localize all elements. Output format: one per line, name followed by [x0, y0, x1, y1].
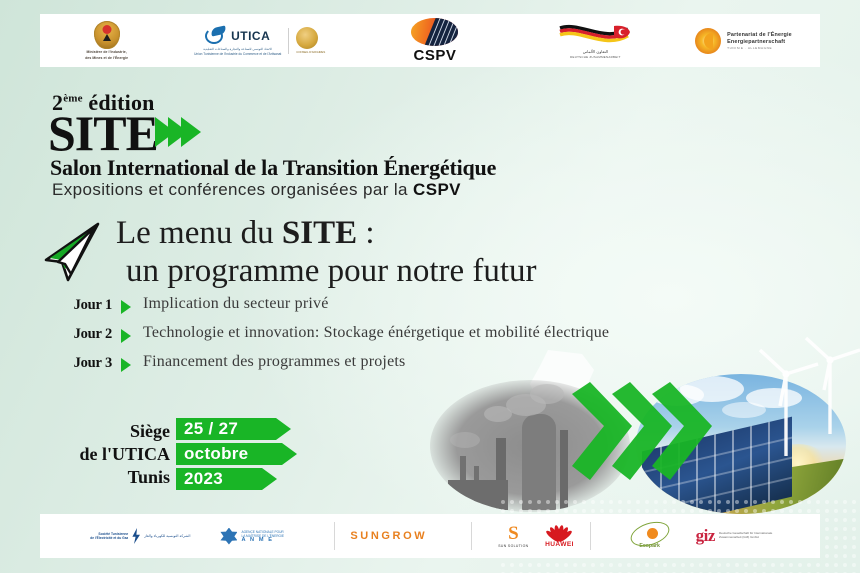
venue-line1: Siège — [40, 420, 170, 443]
cspv-sun-panel-icon — [411, 18, 458, 46]
giz-logo: giz Deutsche Gesellschaft für Internatio… — [696, 526, 781, 546]
utica-arabic-line: الاتحاد التونسي للصناعة والتجارة والصناع… — [203, 47, 272, 51]
venue-line2: de l'UTICA — [40, 443, 170, 466]
date-range-text: 25 / 27 — [184, 419, 238, 439]
menu-line1-suffix: : — [357, 215, 374, 251]
month-banner: octobre — [176, 443, 297, 465]
cspv-logo: CSPV — [346, 14, 524, 67]
top-partner-logo-bar: Ministère de l'Industrie, des Mines et d… — [40, 14, 820, 67]
ecopark-orbit-icon — [630, 523, 670, 545]
anme-emblem-icon — [220, 528, 237, 545]
partnership-line2: Energiepartnerschaft — [727, 39, 792, 45]
utica-logo: UTICA الاتحاد التونسي للصناعة والتجارة و… — [173, 14, 346, 67]
energy-partnership-sun-icon — [695, 28, 721, 54]
edition-ordinal: ème — [63, 93, 83, 105]
year-banner: 2023 — [176, 468, 297, 490]
menu-line1-bold: SITE — [282, 215, 357, 251]
utica-wordmark: UTICA — [231, 29, 270, 43]
utica-caption: Union Tunisienne de l'Industrie du Comme… — [194, 52, 281, 56]
poster-canvas: Ministère de l'Industrie, des Mines et d… — [0, 0, 860, 573]
lightning-bolt-icon — [131, 528, 141, 544]
institutional-sponsor-group: Société Tunisienne de l'Électricité et d… — [40, 514, 334, 558]
organiser-text: Expositions et conférences organisées pa… — [52, 180, 413, 199]
site-acronym-row: SITE — [48, 108, 201, 158]
giz-wordmark: giz — [696, 526, 715, 546]
sun-solution-mark: S — [508, 524, 519, 543]
anme-logo: AGENCE NATIONALE POUR LA MAÎTRISE DE L'É… — [220, 528, 284, 545]
month-text: octobre — [184, 444, 248, 464]
venue-line3: Tunis — [40, 466, 170, 489]
energiepartnerschaft-logo: Partenariat de l'Énergie Energiepartners… — [667, 14, 820, 67]
logo-divider — [288, 28, 289, 54]
technology-sponsor-group: SUNGROW S SUN SOLUTION HUAWEI — [335, 514, 589, 558]
cspv-wordmark: CSPV — [414, 47, 457, 64]
chevron-right-icon — [121, 300, 131, 314]
sun-solution-wordmark: SUN SOLUTION — [498, 544, 528, 548]
deutsche-caption: DEUTSCHE ZUSAMMENARBEIT — [570, 55, 621, 59]
ministere-line2: des Mines et de l'Énergie — [85, 56, 128, 60]
anme-wordmark: A N M E — [241, 538, 284, 542]
ministere-industrie-logo: Ministère de l'Industrie, des Mines et d… — [40, 14, 173, 67]
support-sponsor-group: Ecopark giz Deutsche Gesellschaft für In… — [591, 514, 820, 558]
energy-transition-artwork — [430, 352, 860, 517]
venue-block: Siège de l'UTICA Tunis — [40, 420, 170, 489]
event-subtitle: Salon International de la Transition Éne… — [50, 155, 496, 181]
ecopark-logo: Ecopark — [630, 523, 670, 549]
chevron-right-icon — [121, 358, 131, 372]
day-topic: Financement des programmes et projets — [143, 352, 405, 371]
giz-caption3: Zusammenarbeit (GIZ) GmbH — [719, 535, 759, 539]
date-range-banner: 25 / 27 — [176, 418, 297, 440]
day-label: Jour 3 — [50, 352, 112, 372]
steg-fr-line2: de l'Électricité et du Gaz — [90, 536, 128, 540]
event-date-banners: 25 / 27 octobre 2023 — [176, 418, 297, 493]
sun-solution-logo: S SUN SOLUTION — [498, 524, 528, 548]
huawei-petal-icon — [544, 524, 574, 541]
site-acronym: SITE — [48, 108, 158, 158]
arrow-cursor-icon — [38, 222, 112, 284]
menu-heading: Le menu du SITE : un programme pour notr… — [116, 214, 537, 290]
wind-turbines-icon — [744, 330, 860, 480]
organiser-line: Expositions et conférences organisées pa… — [52, 180, 461, 200]
day-label: Jour 1 — [50, 294, 112, 314]
bottom-sponsor-logo-bar: Société Tunisienne de l'Électricité et d… — [40, 514, 820, 558]
deutsche-zusammenarbeit-logo: التعاون الألماني DEUTSCHE ZUSAMMENARBEIT — [524, 14, 667, 67]
menu-line2: un programme pour notre futur — [126, 252, 537, 290]
partnership-line3: TUNISIE · ALLEMAGNE — [727, 46, 792, 50]
steg-logo: Société Tunisienne de l'Électricité et d… — [90, 528, 190, 544]
list-item: Jour 2 Technologie et innovation: Stocka… — [50, 323, 690, 343]
organiser-org: CSPV — [413, 180, 461, 199]
utica-gear-icon — [205, 26, 227, 46]
ministere-line1: Ministère de l'Industrie, — [87, 50, 127, 54]
list-item: Jour 1 Implication du secteur privé — [50, 294, 690, 314]
green-transition-chevrons-icon — [570, 380, 720, 490]
day-topic: Technologie et innovation: Stockage énér… — [143, 323, 609, 342]
deutsche-arabic-line: التعاون الألماني — [583, 49, 608, 54]
sungrow-logo: SUNGROW — [350, 530, 427, 542]
menu-line1-prefix: Le menu du — [116, 215, 282, 251]
chevron-right-icon — [121, 329, 131, 343]
tunisia-crest-icon — [94, 21, 120, 49]
day-label: Jour 2 — [50, 323, 112, 343]
day-topic: Implication du secteur privé — [143, 294, 329, 313]
year-text: 2023 — [184, 469, 223, 489]
german-tunisian-flag-icon — [558, 23, 632, 49]
conseil-affaires-seal-icon — [296, 27, 318, 49]
partnership-line1: Partenariat de l'Énergie — [727, 32, 792, 38]
site-chevrons-icon — [162, 117, 201, 147]
huawei-logo: HUAWEI — [544, 524, 574, 548]
seal-caption: CONSEIL D'AFFAIRES — [296, 50, 325, 54]
steg-arabic: الشركة التونسية للكهرباء والغاز — [144, 534, 190, 539]
